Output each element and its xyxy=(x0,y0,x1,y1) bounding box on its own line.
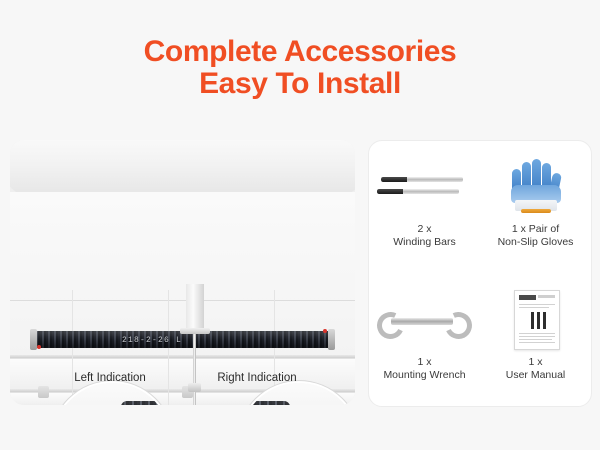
manual-cover xyxy=(514,290,560,350)
accessory-item-gloves: 1 x Pair of Non-Slip Gloves xyxy=(480,141,591,274)
spring-coil xyxy=(238,401,290,405)
left-indication-caption: Left Indication xyxy=(35,372,185,384)
spring-end-cap xyxy=(328,329,335,350)
wrench-jaw xyxy=(441,308,476,343)
accessory-item-wrench: 1 x Mounting Wrench xyxy=(369,274,480,407)
center-mount-plate xyxy=(186,284,204,334)
spring-size-label: 218-2-26 L xyxy=(122,336,182,345)
spring-marker-dot xyxy=(323,329,327,333)
bar-grip xyxy=(381,177,407,182)
accessory-label: 1 x Pair of Non-Slip Gloves xyxy=(498,223,574,249)
indication-captions: Left Indication Right Indication xyxy=(10,372,355,392)
manual-text-line xyxy=(519,342,555,343)
manual-icon xyxy=(480,288,591,350)
product-photo-card: 218-2-26 L xyxy=(10,140,355,405)
manual-diagram xyxy=(531,312,546,329)
bar-grip xyxy=(377,189,403,194)
spring-coil xyxy=(121,401,173,405)
glove-cuff-trim xyxy=(521,209,551,213)
gloves-icon xyxy=(480,155,591,217)
manual-text-line xyxy=(519,339,552,340)
accessory-label: 2 x Winding Bars xyxy=(393,223,455,249)
drop-rod xyxy=(193,334,196,405)
accessory-item-manual: 1 x User Manual xyxy=(480,274,591,407)
accessories-grid: 2 x Winding Bars xyxy=(369,141,591,406)
spring-end-cap xyxy=(30,329,37,350)
headline: Complete Accessories Easy To Install xyxy=(0,36,600,100)
accessory-label: 1 x Mounting Wrench xyxy=(383,356,465,382)
infographic-page: Complete Accessories Easy To Install 218… xyxy=(0,0,600,450)
right-indication-caption: Right Indication xyxy=(182,372,332,384)
manual-brand-logo xyxy=(519,295,536,300)
manual-text-line xyxy=(519,333,555,334)
accessory-qty: 1 x Pair of xyxy=(498,223,574,236)
accessory-name: Non-Slip Gloves xyxy=(498,236,574,249)
accessory-name: Mounting Wrench xyxy=(383,369,465,382)
accessory-qty: 1 x xyxy=(506,356,566,369)
manual-text-line xyxy=(519,307,549,308)
accessory-qty: 1 x xyxy=(383,356,465,369)
bar-shaft xyxy=(403,189,459,194)
accessory-name: Winding Bars xyxy=(393,236,455,249)
spring-marker-dot xyxy=(37,345,41,349)
winding-bars-icon xyxy=(369,155,480,217)
garage-door-header xyxy=(10,140,355,196)
accessories-card: 2 x Winding Bars xyxy=(368,140,592,407)
accessory-item-winding-bars: 2 x Winding Bars xyxy=(369,141,480,274)
wrench-icon xyxy=(369,288,480,350)
manual-header-text xyxy=(538,295,555,298)
winding-bar xyxy=(377,189,459,194)
accessory-qty: 2 x xyxy=(393,223,455,236)
door-seam xyxy=(10,300,355,301)
headline-line-2: Easy To Install xyxy=(0,68,600,100)
headline-line-1: Complete Accessories xyxy=(0,36,600,68)
manual-text-line xyxy=(519,304,555,305)
glove-pair xyxy=(506,157,568,217)
manual-text-line xyxy=(519,336,555,337)
door-rail xyxy=(10,355,355,358)
wrench-jaw xyxy=(373,308,408,343)
accessory-name: User Manual xyxy=(506,369,566,382)
winding-bar xyxy=(381,177,463,182)
accessory-label: 1 x User Manual xyxy=(506,356,566,382)
bar-shaft xyxy=(407,177,463,182)
